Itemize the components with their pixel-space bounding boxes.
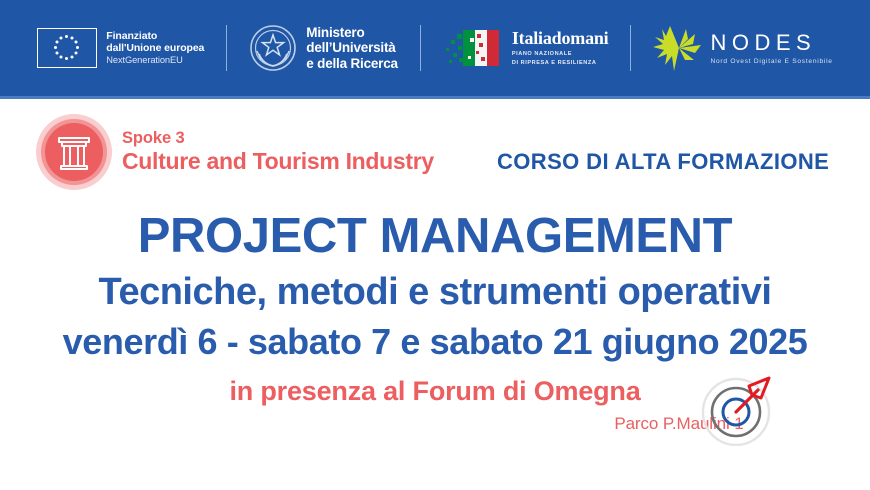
eu-line1: Finanziato <box>106 30 157 42</box>
eu-line2: dall'Unione europea <box>106 42 204 54</box>
eu-sub: NextGenerationEU <box>106 55 204 66</box>
italiadomani-sub1: PIANO NAZIONALE <box>512 50 609 58</box>
sponsor-banner: Finanziato dall'Unione europea NextGener… <box>0 0 870 99</box>
nodes-name: NODES <box>710 32 832 54</box>
italian-flag-pixel-icon <box>443 26 505 70</box>
target-with-dart-icon <box>701 372 775 446</box>
spoke-title: Culture and Tourism Industry <box>122 149 434 175</box>
spoke-badge <box>36 114 112 190</box>
course-dates: venerdì 6 - sabato 7 e sabato 21 giugno … <box>0 324 870 360</box>
nodes-sub: Nord Ovest Digitale E Sostenibile <box>710 58 832 65</box>
logo-ministero: Ministero dell’Università e della Ricerc… <box>249 20 398 76</box>
course-title: PROJECT MANAGEMENT <box>0 212 870 261</box>
logo-eu-funding: Finanziato dall'Unione europea NextGener… <box>37 20 204 76</box>
logo-divider <box>630 25 631 71</box>
spoke-identity: Spoke 3 Culture and Tourism Industry <box>36 114 434 190</box>
italiadomani-name: Italiadomani <box>512 29 609 47</box>
logo-divider <box>420 25 421 71</box>
classical-column-icon <box>45 123 103 181</box>
course-eyebrow: CORSO DI ALTA FORMAZIONE <box>497 149 829 175</box>
nodes-label: NODES Nord Ovest Digitale E Sostenibile <box>710 32 832 65</box>
mur-line3: e della Ricerca <box>306 56 398 71</box>
italiadomani-sub2: DI RIPRESA E RESILIENZA <box>512 59 609 67</box>
logo-italiadomani: Italiadomani PIANO NAZIONALE DI RIPRESA … <box>443 20 609 76</box>
logo-divider <box>226 25 227 71</box>
course-subtitle: Tecniche, metodi e strumenti operativi <box>0 273 870 311</box>
mur-line2: dell’Università <box>306 40 395 55</box>
spoke-labels: Spoke 3 Culture and Tourism Industry <box>122 129 434 174</box>
mur-line1: Ministero <box>306 25 364 40</box>
eu-flag-icon <box>37 28 97 68</box>
ministero-label: Ministero dell’Università e della Ricerc… <box>306 25 398 72</box>
nodes-starburst-icon <box>653 23 705 73</box>
italian-republic-emblem-icon <box>249 24 297 72</box>
italiadomani-label: Italiadomani PIANO NAZIONALE DI RIPRESA … <box>512 29 609 66</box>
eu-funding-label: Finanziato dall'Unione europea NextGener… <box>106 30 204 67</box>
logo-nodes: NODES Nord Ovest Digitale E Sostenibile <box>653 20 832 76</box>
spoke-kicker: Spoke 3 <box>122 129 434 147</box>
sponsor-logo-group: Finanziato dall'Unione europea NextGener… <box>37 0 832 96</box>
